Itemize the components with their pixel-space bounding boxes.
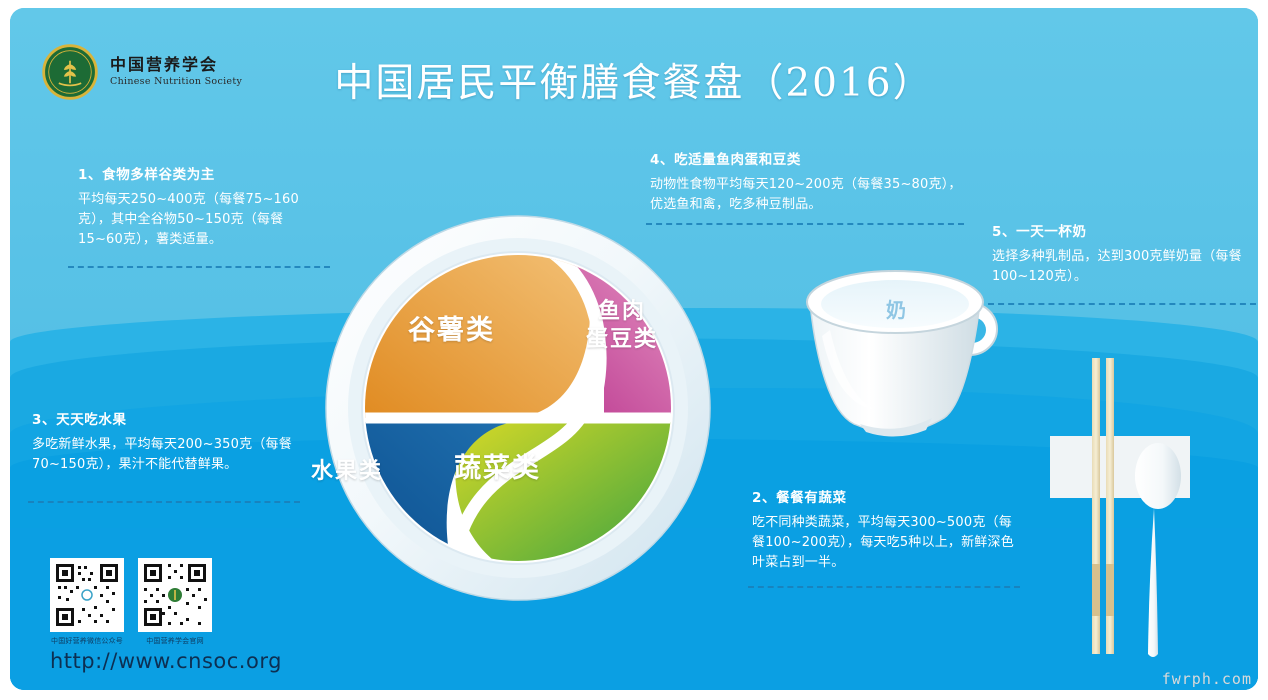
qr-item-website[interactable]: 中国营养学会官网	[138, 558, 212, 646]
footer-block: 中国好营养微信公众号	[50, 558, 282, 673]
poster-panel: 中国营养学会 Chinese Nutrition Society 中国居民平衡膳…	[10, 8, 1258, 690]
infographic-root: 中国营养学会 Chinese Nutrition Society 中国居民平衡膳…	[0, 0, 1268, 700]
utensils-graphic	[1036, 358, 1246, 658]
qr-code-wechat[interactable]	[50, 558, 124, 632]
note-1-body: 平均每天250~400克（每餐75~160克），其中全谷物50~150克（每餐1…	[78, 190, 328, 250]
note-1-grains: 1、食物多样谷类为主 平均每天250~400克（每餐75~160克），其中全谷物…	[78, 163, 328, 250]
note-4-body: 动物性食物平均每天120~200克（每餐35~80克），优选鱼和禽，吃多种豆制品…	[650, 175, 962, 215]
spoon-handle	[1148, 508, 1158, 657]
note-3-heading: 3、天天吃水果	[32, 408, 298, 428]
website-url[interactable]: http://www.cnsoc.org	[50, 649, 282, 673]
note-2-heading: 2、餐餐有蔬菜	[752, 486, 1020, 506]
utensils-group	[1036, 358, 1246, 658]
note-2-vegetable: 2、餐餐有蔬菜 吃不同种类蔬菜，平均每天300~500克（每餐100~200克）…	[752, 486, 1020, 573]
note-4-protein: 4、吃适量鱼肉蛋和豆类 动物性食物平均每天120~200克（每餐35~80克），…	[650, 148, 962, 215]
note-5-milk: 5、一天一杯奶 选择多种乳制品，达到300克鲜奶量（每餐100~120克）。	[992, 220, 1254, 287]
qr-caption-wechat: 中国好营养微信公众号	[50, 636, 124, 646]
qr-code-row: 中国好营养微信公众号	[50, 558, 282, 646]
note-3-body: 多吃新鲜水果，平均每天200~350克（每餐70~150克），果汁不能代替鲜果。	[32, 435, 298, 475]
note-5-body: 选择多种乳制品，达到300克鲜奶量（每餐100~120克）。	[992, 247, 1254, 287]
connector-line-3	[28, 501, 300, 503]
note-2-body: 吃不同种类蔬菜，平均每天300~500克（每餐100~200克），每天吃5种以上…	[752, 513, 1020, 573]
plate-graphic	[286, 208, 750, 608]
page-title: 中国居民平衡膳食餐盘（2016）	[10, 52, 1258, 108]
qr-code-icon	[54, 562, 120, 628]
qr-caption-website: 中国营养学会官网	[138, 636, 212, 646]
qr-code-website[interactable]	[138, 558, 212, 632]
balanced-diet-plate: 谷薯类 鱼肉 蛋豆类 蔬菜类 水果类	[286, 208, 750, 608]
cup-graphic	[794, 256, 1014, 446]
note-5-heading: 5、一天一杯奶	[992, 220, 1254, 240]
connector-line-5	[988, 303, 1256, 305]
qr-item-wechat[interactable]: 中国好营养微信公众号	[50, 558, 124, 646]
cup-label: 奶	[886, 294, 906, 323]
note-1-heading: 1、食物多样谷类为主	[78, 163, 328, 183]
note-3-fruit: 3、天天吃水果 多吃新鲜水果，平均每天200~350克（每餐70~150克），果…	[32, 408, 298, 475]
milk-cup: 奶	[794, 256, 1014, 446]
connector-line-2	[748, 586, 1020, 588]
connector-line-4	[646, 223, 964, 225]
connector-line-1	[68, 266, 330, 268]
watermark: fwrph.com	[1162, 670, 1252, 688]
note-4-heading: 4、吃适量鱼肉蛋和豆类	[650, 148, 962, 168]
qr-code-icon	[142, 562, 208, 628]
spoon-bowl	[1135, 443, 1181, 509]
